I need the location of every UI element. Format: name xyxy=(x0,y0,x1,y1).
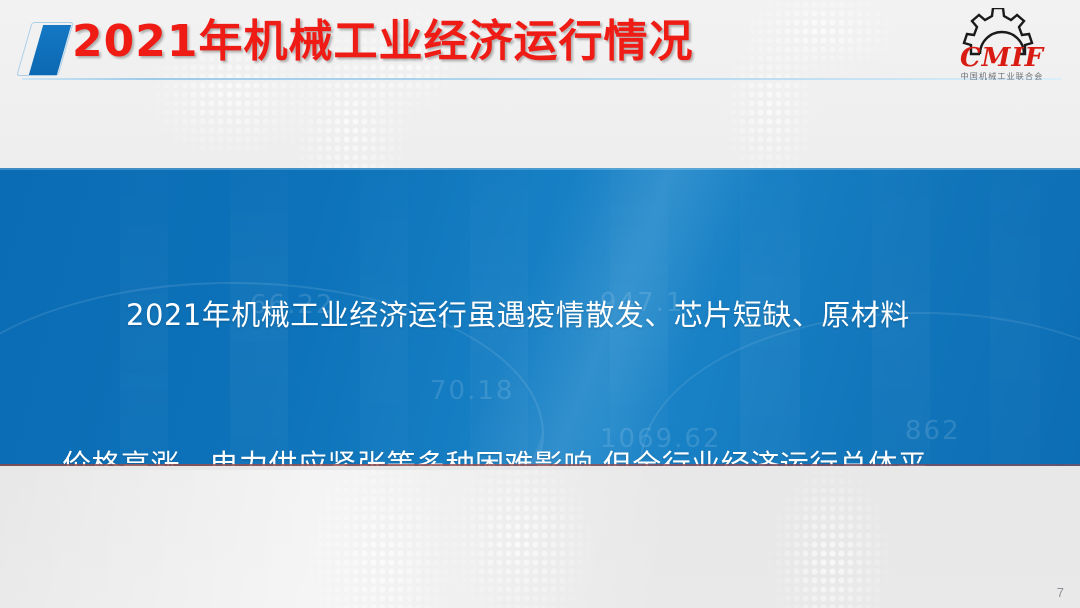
paragraph-line-text: 2021年机械工业经济运行虽遇疫情散发、芯片短缺、原材料 xyxy=(126,298,910,332)
panel-top-edge xyxy=(0,168,1080,170)
page-number: 7 xyxy=(1057,585,1064,600)
paragraph-line: 2021年机械工业经济运行虽遇疫情散发、芯片短缺、原材料 xyxy=(62,290,1022,340)
gear-icon: CMIF xyxy=(942,8,1062,78)
horizontal-rule-icon xyxy=(22,78,1062,80)
slide-canvas: 2021年机械工业经济运行情况 CMIF 中国机械工业联合会 66.22 947… xyxy=(0,0,1080,608)
organization-logo: CMIF 中国机械工业联合会 xyxy=(942,8,1062,84)
page-title: 2021年机械工业经济运行情况 xyxy=(72,14,693,70)
slanted-bar-icon xyxy=(24,22,68,76)
paragraph-line: 价格高涨、电力供应紧张等多种困难影响,但全行业经济运行总体平 xyxy=(62,440,1022,466)
svg-text:CMIF: CMIF xyxy=(960,43,1045,73)
logo-organization-name: 中国机械工业联合会 xyxy=(942,71,1062,82)
panel-bottom-edge xyxy=(0,464,1080,466)
content-panel: 66.22 947.1 70.18 862 1069.62 2021年机械工业经… xyxy=(0,168,1080,466)
body-paragraph: 2021年机械工业经济运行虽遇疫情散发、芯片短缺、原材料 价格高涨、电力供应紧张… xyxy=(62,190,1022,466)
slide-header: 2021年机械工业经济运行情况 CMIF 中国机械工业联合会 xyxy=(0,0,1080,96)
